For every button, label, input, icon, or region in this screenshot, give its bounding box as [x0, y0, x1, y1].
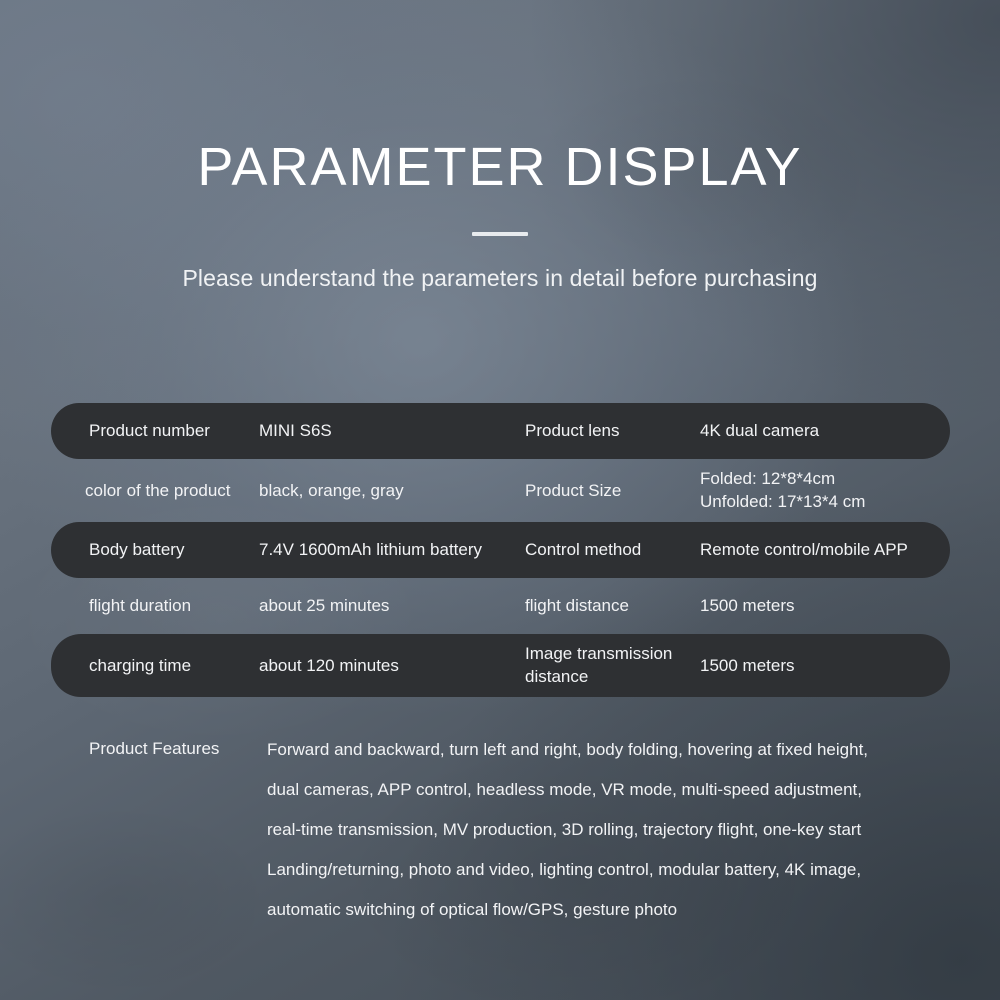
spec-label-image-transmission-distance: Image transmission distance — [525, 643, 700, 688]
table-row: flight duration about 25 minutes flight … — [51, 578, 950, 634]
spec-value-image-transmission-distance: 1500 meters — [700, 655, 950, 677]
feature-line: Landing/returning, photo and video, ligh… — [267, 850, 950, 890]
feature-line: automatic switching of optical flow/GPS,… — [267, 890, 950, 930]
spec-label-charging-time: charging time — [51, 655, 259, 677]
spec-value-color: black, orange, gray — [259, 480, 525, 502]
spec-value-flight-duration: about 25 minutes — [259, 595, 525, 617]
feature-line: real-time transmission, MV production, 3… — [267, 810, 950, 850]
spec-table: Product number MINI S6S Product lens 4K … — [51, 403, 950, 697]
spec-value-product-size: Folded: 12*8*4cm Unfolded: 17*13*4 cm — [700, 468, 950, 513]
table-row: color of the product black, orange, gray… — [51, 459, 950, 522]
spec-value-product-number: MINI S6S — [259, 420, 525, 442]
spec-label-flight-duration: flight duration — [51, 595, 259, 617]
product-features-label: Product Features — [51, 730, 259, 930]
spec-value-body-battery: 7.4V 1600mAh lithium battery — [259, 539, 525, 561]
title-divider — [472, 232, 528, 236]
table-row: Product number MINI S6S Product lens 4K … — [51, 403, 950, 459]
spec-value-flight-distance: 1500 meters — [700, 595, 950, 617]
spec-value-product-lens: 4K dual camera — [700, 420, 950, 442]
spec-label-color: color of the product — [51, 480, 259, 502]
page-header: PARAMETER DISPLAY Please understand the … — [0, 140, 1000, 292]
spec-label-product-size: Product Size — [525, 480, 700, 502]
spec-label-flight-distance: flight distance — [525, 595, 700, 617]
page-subtitle: Please understand the parameters in deta… — [0, 265, 1000, 292]
feature-line: dual cameras, APP control, headless mode… — [267, 770, 950, 810]
spec-label-control-method: Control method — [525, 539, 700, 561]
page-title: PARAMETER DISPLAY — [0, 140, 1000, 194]
feature-line: Forward and backward, turn left and righ… — [267, 730, 950, 770]
spec-label-product-lens: Product lens — [525, 420, 700, 442]
table-row: Body battery 7.4V 1600mAh lithium batter… — [51, 522, 950, 578]
spec-value-charging-time: about 120 minutes — [259, 655, 525, 677]
spec-label-product-number: Product number — [51, 420, 259, 442]
spec-label-body-battery: Body battery — [51, 539, 259, 561]
product-features-text: Forward and backward, turn left and righ… — [259, 730, 950, 930]
parameter-display-page: PARAMETER DISPLAY Please understand the … — [0, 0, 1000, 1000]
table-row: charging time about 120 minutes Image tr… — [51, 634, 950, 697]
spec-value-control-method: Remote control/mobile APP — [700, 539, 950, 561]
product-features-block: Product Features Forward and backward, t… — [51, 730, 950, 930]
